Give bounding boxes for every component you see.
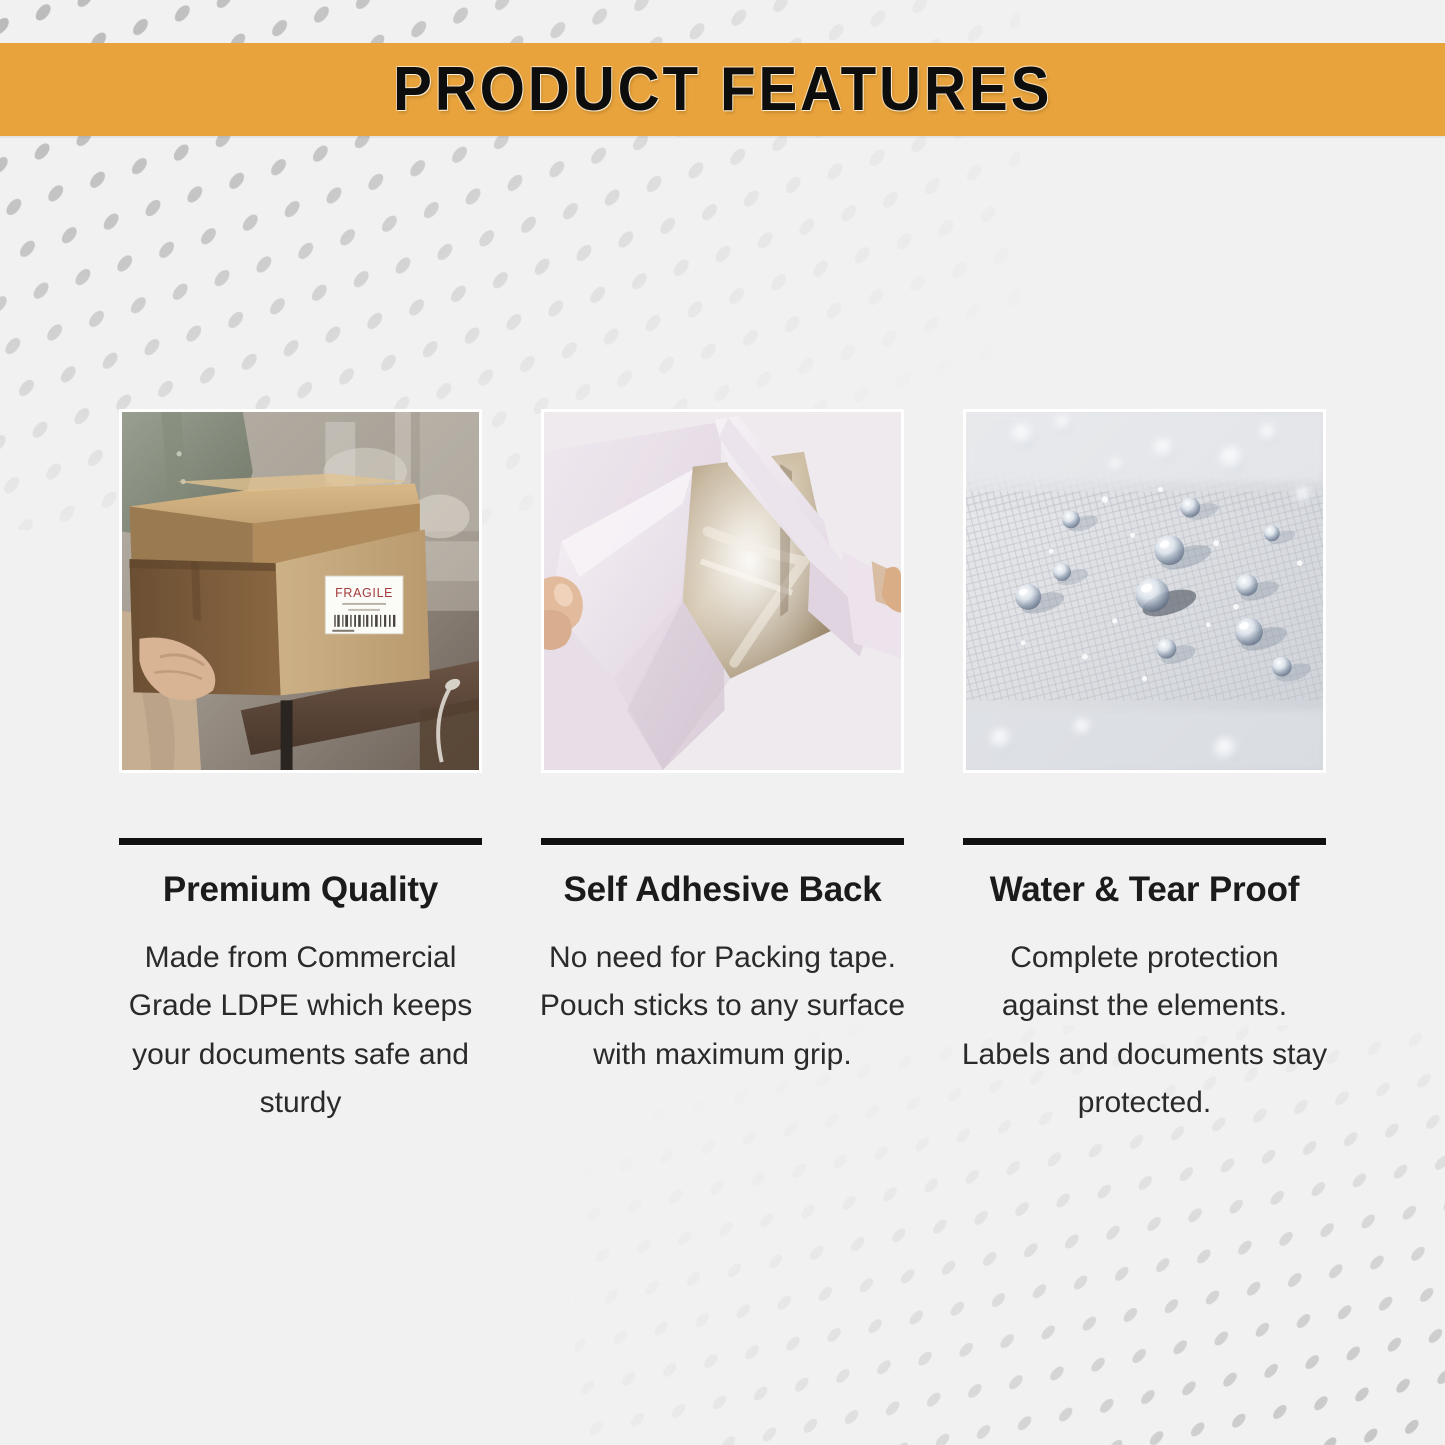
feature-columns: FRAGILE — [119, 409, 1326, 1128]
page-header-banner: PRODUCT FEATURES — [0, 43, 1445, 136]
fragile-label-text: FRAGILE — [335, 586, 393, 600]
feature-heading-premium-quality: Premium Quality — [163, 871, 438, 910]
feature-body-premium-quality: Made from Commercial Grade LDPE which ke… — [108, 934, 494, 1128]
feature-column-water-tear-proof: Water & Tear Proof Complete protection a… — [963, 409, 1326, 1128]
warehouse-worker-carrying-cardboard-boxes-photo: FRAGILE — [122, 412, 479, 770]
feature-heading-self-adhesive-back: Self Adhesive Back — [563, 871, 881, 910]
feature-heading-water-tear-proof: Water & Tear Proof — [990, 871, 1300, 910]
feature-image-premium-quality: FRAGILE — [119, 409, 482, 773]
feature-image-water-tear-proof — [963, 409, 1326, 773]
hand-peeling-adhesive-liner-photo — [544, 412, 901, 770]
feature-body-self-adhesive-back: No need for Packing tape. Pouch sticks t… — [528, 934, 918, 1080]
feature-body-water-tear-proof: Complete protection against the elements… — [960, 934, 1330, 1128]
feature-column-self-adhesive-back: Self Adhesive Back No need for Packing t… — [541, 409, 904, 1128]
water-droplets-on-waterproof-fabric-photo — [966, 412, 1323, 770]
product-features-infographic: PRODUCT FEATURES — [0, 0, 1445, 1445]
feature-divider-rule — [541, 838, 904, 845]
feature-divider-rule — [119, 838, 482, 845]
feature-divider-rule — [963, 838, 1326, 845]
page-title: PRODUCT FEATURES — [393, 54, 1052, 125]
feature-column-premium-quality: FRAGILE — [119, 409, 482, 1128]
feature-image-self-adhesive-back — [541, 409, 904, 773]
